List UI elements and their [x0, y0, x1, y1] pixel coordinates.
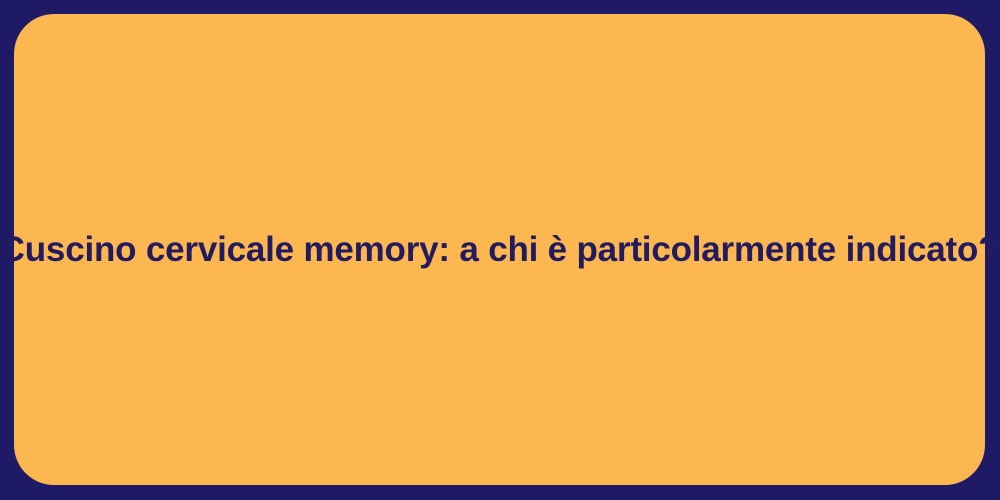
headline-card: Cuscino cervicale memory: a chi è partic… — [14, 14, 985, 485]
page-frame: Cuscino cervicale memory: a chi è partic… — [0, 0, 1000, 500]
page-title: Cuscino cervicale memory: a chi è partic… — [0, 228, 999, 272]
